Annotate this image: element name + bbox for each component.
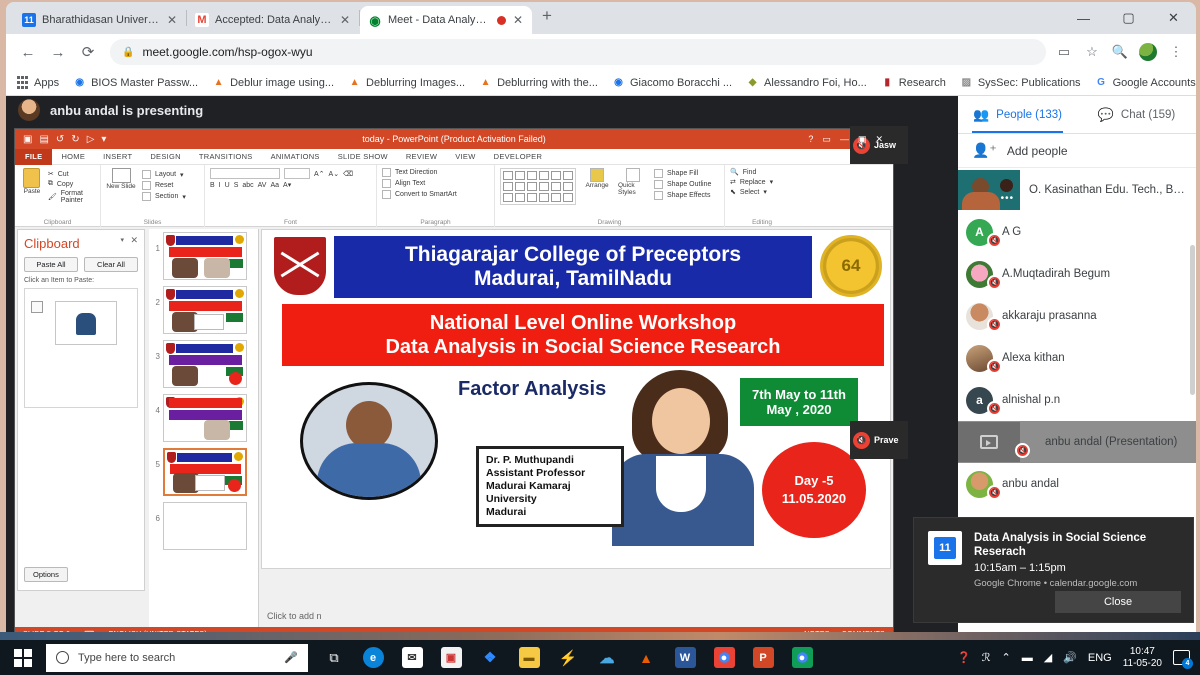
slide-thumbnail-panel[interactable]: 1 2 3 4 — [149, 229, 259, 627]
avatar: 🔇 — [966, 471, 993, 498]
mic-off-icon: 🔇 — [987, 317, 1002, 332]
ribbon-tab-view[interactable]: VIEW — [446, 149, 484, 165]
powerpoint-title-bar: ▣ ▤ ↺ ↻ ▷ ▾ today - PowerPoint (Product … — [15, 129, 893, 149]
slide-thumbnail-item[interactable]: 3 — [151, 340, 258, 388]
back-button[interactable]: ← — [14, 38, 42, 66]
firefox-icon: ▲ — [212, 76, 225, 89]
clipboard-menu-icon[interactable]: ▾ — [120, 236, 124, 244]
slide-number: 5 — [151, 448, 160, 469]
find-label: Find — [743, 169, 757, 176]
notification-source: Google Chrome • calendar.google.com — [974, 578, 1179, 589]
word-icon[interactable]: W — [667, 640, 703, 675]
clock-date: 11-05-20 — [1123, 658, 1162, 670]
strikethrough-button[interactable]: abc — [242, 182, 253, 189]
find-icon: 🔍 — [730, 168, 739, 176]
start-button[interactable] — [0, 640, 46, 675]
font-color-button[interactable]: A▾ — [283, 181, 291, 189]
increase-font-icon[interactable]: A⌃ — [314, 170, 325, 178]
shape-outline-icon — [654, 180, 663, 189]
shared-screen-powerpoint[interactable]: ▣ ▤ ↺ ↻ ▷ ▾ today - PowerPoint (Product … — [14, 128, 894, 642]
ribbon-display-icon[interactable]: ▭ — [822, 134, 831, 145]
shape-outline-button[interactable]: Shape Outline — [654, 180, 711, 189]
list-item[interactable]: 🔇 Alexa kithan — [958, 337, 1196, 379]
presenting-banner: anbu andal is presenting — [6, 96, 956, 124]
book-icon: ▮ — [881, 76, 894, 89]
meet-favicon-icon: ◉ — [368, 13, 382, 27]
app-yellow-icon[interactable]: ⚡ — [550, 640, 586, 675]
reload-button[interactable]: ⟳ — [74, 38, 102, 66]
bookmark-label: Alessandro Foi, Ho... — [764, 77, 867, 89]
tray-chevron-icon[interactable]: ⌃ — [1001, 651, 1010, 664]
file-explorer-icon[interactable]: ▬ — [511, 640, 547, 675]
bookmark-alessandro[interactable]: ◆ Alessandro Foi, Ho... — [746, 76, 867, 89]
slide-thumbnail-item[interactable]: 1 — [151, 232, 258, 280]
font-controls-row: A⌃ A⌄ ⌫ — [210, 168, 371, 179]
cortana-circle-icon — [56, 651, 69, 664]
powerpoint-icon[interactable]: P — [745, 640, 781, 675]
align-text-icon — [382, 179, 391, 188]
college-crest-icon — [272, 235, 328, 297]
workshop-dates-badge: 7th May to 11th May , 2020 — [740, 378, 858, 426]
notes-placeholder[interactable]: Click to add n — [261, 607, 891, 625]
close-tab-icon[interactable]: ✕ — [339, 13, 351, 27]
shape-fill-label: Shape Fill — [667, 170, 698, 177]
ribbon-tab-design[interactable]: DESIGN — [141, 149, 190, 165]
topic-title: Factor Analysis — [458, 378, 606, 401]
url-text: meet.google.com/hsp-ogox-wyu — [142, 45, 312, 59]
slide-thumbnail-item-selected[interactable]: 5 — [151, 448, 258, 496]
smartart-button[interactable]: Convert to SmartArt — [382, 190, 489, 199]
ribbon-group-paragraph: Text Direction Align Text Convert to Sma… — [377, 165, 495, 227]
mail-icon[interactable]: ✉ — [394, 640, 430, 675]
close-icon[interactable]: ✕ — [875, 134, 883, 145]
avatar: a 🔇 — [966, 387, 993, 414]
participant-tile-prave[interactable]: 🔇 Prave — [850, 421, 908, 459]
ribbon-tab-review[interactable]: REVIEW — [397, 149, 446, 165]
font-size-input[interactable] — [284, 168, 310, 179]
search-placeholder: Type here to search — [78, 652, 175, 664]
tab-strip: 11 Bharathidasan University - Calen ✕ M … — [6, 2, 1196, 34]
mic-off-icon: 🔇 — [987, 275, 1002, 290]
clipboard-buttons: Paste All Clear All — [24, 257, 138, 272]
powerpoint-workspace: Clipboard ▾ ✕ Paste All Clear All Click … — [15, 227, 893, 627]
slide-thumbnail-item[interactable]: 6 — [151, 502, 258, 550]
tab-people-label: People (133) — [996, 109, 1062, 121]
format-painter-button[interactable]: 🖌Format Painter — [48, 190, 95, 204]
avatar: A 🔇 — [966, 219, 993, 246]
participant-name: anbu andal (Presentation) — [1045, 436, 1177, 448]
day-line-2: 11.05.2020 — [782, 490, 846, 508]
italic-button[interactable]: I — [219, 182, 221, 189]
vlc-icon[interactable]: ▲ — [628, 640, 664, 675]
change-case-button[interactable]: Aa — [270, 182, 279, 189]
ribbon-tab-developer[interactable]: DEVELOPER — [485, 149, 552, 165]
powerpoint-ribbon: Paste ✂Cut ⧉Copy 🖌Format Painter Clipboa… — [15, 165, 893, 227]
college-title-banner: Thiagarajar College of Preceptors Madura… — [334, 236, 812, 298]
windows-logo-icon — [14, 649, 32, 667]
cut-button[interactable]: ✂Cut — [48, 170, 95, 178]
smartart-label: Convert to SmartArt — [395, 191, 457, 198]
font-name-input[interactable] — [210, 168, 280, 179]
menu-kebab-icon[interactable]: ⋮ — [1166, 42, 1186, 62]
character-spacing-button[interactable]: AV — [258, 182, 267, 189]
participant-name: O. Kasinathan Edu. Tech., BDU ... — [1029, 184, 1188, 196]
avatar: 🔇 — [966, 303, 993, 330]
chrome-taskbar-icon[interactable]: ● — [706, 640, 742, 675]
ribbon-group-editing: 🔍Find ⇄Replace▾ ⬉Select▾ Editing — [725, 165, 799, 227]
panel-tabs: 👥 People (133) 💬 Chat (159) — [958, 96, 1196, 134]
dropbox-icon[interactable]: ❖ — [472, 640, 508, 675]
calendar-icon-day: 11 — [934, 537, 956, 559]
wifi-icon[interactable]: ◢ — [1044, 651, 1052, 664]
text-direction-icon — [382, 168, 391, 177]
mic-off-icon: 🔇 — [987, 233, 1002, 248]
ribbon-tab-insert[interactable]: INSERT — [94, 149, 141, 165]
close-tab-icon[interactable]: ✕ — [512, 13, 524, 27]
edge-icon[interactable]: e — [355, 640, 391, 675]
toolbar-icons: ▭ ☆ 🔍 ⋮ — [1054, 42, 1188, 62]
mic-off-icon: 🔇 — [987, 401, 1002, 416]
minimize-icon[interactable]: — — [840, 134, 849, 145]
bookmark-label: SysSec: Publications — [978, 77, 1081, 89]
participant-name: Prave — [874, 435, 899, 445]
list-item[interactable]: A 🔇 A G — [958, 211, 1196, 253]
panel-scrollbar[interactable] — [1190, 245, 1195, 395]
bookmark-label: Deblur image using... — [230, 77, 334, 89]
ribbon-group-clipboard: Paste ✂Cut ⧉Copy 🖌Format Painter Clipboa… — [15, 165, 101, 227]
search-input[interactable]: Type here to search 🎤 — [46, 644, 308, 672]
list-item[interactable]: ••• O. Kasinathan Edu. Tech., BDU ... — [958, 169, 1196, 211]
microphone-icon[interactable]: 🎤 — [284, 651, 298, 664]
participant-name: akkaraju prasanna — [1002, 310, 1097, 322]
bookmark-label: Apps — [34, 77, 59, 89]
ribbon-group-drawing: Arrange Quick Styles Shape Fill Shape Ou… — [495, 165, 725, 227]
star-icon[interactable]: ☆ — [1082, 42, 1102, 62]
slide-number: 4 — [151, 394, 160, 415]
text-direction-button[interactable]: Text Direction — [382, 168, 489, 177]
paste-icon — [23, 168, 40, 188]
system-tray: ❓ ℛ ⌃ ▬ ◢ 🔊 ENG 10:47 11-05-20 4 — [957, 646, 1200, 669]
new-tab-button[interactable]: + — [532, 6, 562, 30]
text-direction-label: Text Direction — [395, 169, 437, 176]
cut-icon: ✂ — [48, 170, 54, 178]
participant-name: A G — [1002, 226, 1021, 238]
replace-button[interactable]: ⇄Replace▾ — [730, 178, 794, 186]
chrome-active-icon[interactable]: ● — [784, 640, 820, 675]
section-button[interactable]: Section▾ — [142, 192, 186, 201]
shape-effects-button[interactable]: Shape Effects — [654, 191, 711, 200]
page-icon: ▨ — [960, 76, 973, 89]
bookmark-label: Deblurring with the... — [497, 77, 598, 89]
reset-label: Reset — [155, 182, 173, 189]
slide-thumbnail[interactable] — [163, 448, 247, 496]
participant-video-thumbnail[interactable]: ••• — [958, 170, 1020, 210]
find-button[interactable]: 🔍Find — [730, 168, 794, 176]
anniversary-seal-icon: 64 — [820, 235, 882, 297]
clipboard-hint: Click an Item to Paste: — [24, 277, 138, 284]
bookmarks-bar: Apps ◉ BIOS Master Passw... ▲ Deblur ima… — [6, 70, 1196, 96]
notification-title: Data Analysis in Social Science Reserach — [974, 531, 1179, 560]
avatar: 🔇 — [966, 261, 993, 288]
ribbon-tab-slide-show[interactable]: SLIDE SHOW — [329, 149, 397, 165]
bookmark-label: Google Accounts — [1113, 77, 1196, 89]
handwriting-icon[interactable]: ℛ — [982, 651, 991, 664]
list-item[interactable]: 🔇 akkaraju prasanna — [958, 295, 1196, 337]
copy-button[interactable]: ⧉Copy — [48, 180, 95, 188]
add-people-label: Add people — [1007, 144, 1068, 158]
group-label: Slides — [101, 219, 204, 226]
presenter-avatar — [18, 99, 40, 121]
app-blue-icon[interactable]: ☁ — [589, 640, 625, 675]
quick-styles-label: Quick Styles — [618, 182, 648, 196]
browser-tab-gmail[interactable]: M Accepted: Data Analysis in Social ✕ — [187, 6, 359, 34]
workshop-line-2: Data Analysis in Social Science Research — [385, 335, 780, 359]
speaker-institution-2: University — [486, 493, 614, 506]
list-item[interactable]: a 🔇 alnishal p.n — [958, 379, 1196, 421]
bookmark-deblur-3[interactable]: ▲ Deblurring with the... — [479, 76, 598, 89]
lock-icon: 🔒 — [122, 47, 134, 58]
search-extension-icon[interactable]: 🔍 — [1110, 42, 1130, 62]
bookmark-giacomo[interactable]: ◉ Giacomo Boracchi ... — [612, 76, 732, 89]
ribbon-tab-transitions[interactable]: TRANSITIONS — [190, 149, 262, 165]
font-style-row: B I U S abc AV Aa A▾ — [210, 181, 371, 189]
clipboard-item-thumbnail[interactable] — [55, 301, 117, 345]
browser-tab-meet[interactable]: ◉ Meet - Data Analysis in Soci ✕ — [360, 6, 532, 34]
meet-stage: anbu andal is presenting ▣ ▤ ↺ ↻ ▷ ▾ t — [6, 96, 956, 642]
college-line-2: Madurai, TamilNadu — [474, 267, 672, 291]
store-icon[interactable]: ▣ — [433, 640, 469, 675]
quick-styles-button[interactable]: Quick Styles — [618, 168, 648, 196]
bookmark-deblur-1[interactable]: ▲ Deblur image using... — [212, 76, 334, 89]
speaker-details-card: Dr. P. Muthupandi Assistant Professor Ma… — [476, 446, 624, 527]
tab-people[interactable]: 👥 People (133) — [958, 96, 1077, 133]
screen: 11 Bharathidasan University - Calen ✕ M … — [0, 0, 1200, 675]
slide-thumbnail[interactable] — [163, 394, 247, 442]
maximize-button[interactable]: ▢ — [1106, 2, 1151, 34]
close-notification-button[interactable]: Close — [1055, 591, 1181, 613]
mic-off-icon: 🔇 — [987, 485, 1002, 500]
camera-icon[interactable]: ▭ — [1054, 42, 1074, 62]
copy-icon: ⧉ — [48, 180, 53, 188]
slide-thumbnail[interactable] — [163, 232, 247, 280]
arrange-label: Arrange — [585, 182, 608, 189]
people-icon: 👥 — [973, 107, 989, 123]
speaker-city: Madurai — [486, 506, 614, 519]
layout-icon — [142, 170, 151, 179]
bookmark-apps[interactable]: Apps — [16, 76, 59, 89]
clock-time: 10:47 — [1123, 646, 1162, 658]
close-window-button[interactable]: ✕ — [1151, 2, 1196, 34]
windows-notification[interactable]: 11 Data Analysis in Social Science Reser… — [913, 517, 1194, 623]
apps-grid-icon — [16, 76, 29, 89]
quick-styles-icon — [626, 168, 640, 182]
slide-thumbnail-empty[interactable] — [163, 502, 247, 550]
arrange-icon — [590, 168, 604, 182]
replace-label: Replace — [740, 179, 766, 186]
select-label: Select — [740, 189, 759, 196]
gmail-favicon-icon: M — [195, 13, 209, 27]
task-view-icon[interactable]: ⧉ — [316, 640, 352, 675]
tab-title: Accepted: Data Analysis in Social — [215, 14, 333, 26]
align-text-button[interactable]: Align Text — [382, 179, 489, 188]
workshop-line-1: National Level Online Workshop — [430, 311, 736, 335]
calendar-icon: 11 — [928, 531, 962, 565]
bookmark-google-accounts[interactable]: G Google Accounts — [1095, 76, 1196, 89]
tab-chat[interactable]: 💬 Chat (159) — [1077, 96, 1196, 133]
slide-thumbnail[interactable] — [163, 340, 247, 388]
browser-tab-calendar[interactable]: 11 Bharathidasan University - Calen ✕ — [14, 6, 186, 34]
bookmark-bios[interactable]: ◉ BIOS Master Passw... — [73, 76, 198, 89]
powerpoint-window-controls: ? ▭ — ▣ ✕ — [808, 134, 889, 145]
slide-number: 6 — [151, 502, 160, 523]
group-label: Font — [205, 219, 376, 226]
reset-icon — [142, 181, 151, 190]
participant-name: alnishal p.n — [1002, 394, 1060, 406]
globe-icon: ◉ — [612, 76, 625, 89]
shape-fill-button[interactable]: Shape Fill — [654, 169, 711, 178]
slide-number: 3 — [151, 340, 160, 361]
bookmark-label: BIOS Master Passw... — [91, 77, 198, 89]
slide-number: 1 — [151, 232, 160, 253]
underline-button[interactable]: U — [225, 182, 230, 189]
recording-indicator-icon — [497, 16, 506, 25]
shapes-gallery[interactable] — [500, 168, 576, 205]
volume-icon[interactable]: 🔊 — [1063, 651, 1077, 664]
new-slide-icon — [112, 168, 131, 183]
close-tab-icon[interactable]: ✕ — [166, 13, 178, 27]
powerpoint-title: today - PowerPoint (Product Activation F… — [15, 134, 893, 144]
slide-thumbnail-item[interactable]: 2 — [151, 286, 258, 334]
clipboard-items-list — [24, 288, 138, 408]
powerpoint-ribbon-tabs: FILE HOME INSERT DESIGN TRANSITIONS ANIM… — [15, 149, 893, 165]
firefox-icon: ▲ — [479, 76, 492, 89]
section-label: Section — [155, 193, 178, 200]
restore-icon[interactable]: ▣ — [858, 134, 867, 145]
add-people-button[interactable]: 👤⁺ Add people — [958, 134, 1196, 168]
align-text-label: Align Text — [395, 180, 425, 187]
close-icon[interactable]: ✕ — [130, 235, 138, 246]
slide-thumbnail-item[interactable]: 4 — [151, 394, 258, 442]
new-slide-button[interactable]: New Slide — [106, 168, 136, 203]
help-icon[interactable]: ? — [808, 134, 813, 145]
browser-toolbar: ← → ⟳ 🔒 meet.google.com/hsp-ogox-wyu ▭ ☆… — [6, 34, 1196, 70]
address-bar[interactable]: 🔒 meet.google.com/hsp-ogox-wyu — [110, 39, 1046, 65]
chat-icon: 💬 — [1098, 107, 1114, 123]
select-button[interactable]: ⬉Select▾ — [730, 188, 794, 196]
speaker-institution-1: Madurai Kamaraj — [486, 480, 614, 493]
list-item[interactable]: 🔇 A.Muqtadirah Begum — [958, 253, 1196, 295]
google-icon: G — [1095, 76, 1108, 89]
tab-chat-label: Chat (159) — [1121, 109, 1175, 121]
layout-button[interactable]: Layout▾ — [142, 170, 186, 179]
group-label: Drawing — [495, 219, 724, 226]
day-line-1: Day -5 — [794, 472, 833, 490]
group-label: Clipboard — [15, 219, 100, 226]
bookmark-label: Giacomo Boracchi ... — [630, 77, 732, 89]
dates-line-2: May , 2020 — [766, 402, 831, 417]
reset-button[interactable]: Reset — [142, 181, 186, 190]
list-item[interactable]: 🔇 anbu andal — [958, 463, 1196, 505]
minimize-button[interactable]: — — [1061, 2, 1106, 34]
smartart-icon — [382, 190, 391, 199]
bookmark-syssec[interactable]: ▨ SysSec: Publications — [960, 76, 1081, 89]
forward-button[interactable]: → — [44, 38, 72, 66]
language-indicator[interactable]: ENG — [1088, 652, 1112, 664]
cut-label: Cut — [58, 171, 69, 178]
action-center-icon[interactable]: 4 — [1173, 650, 1190, 665]
stock-photo-woman — [604, 370, 762, 545]
shape-outline-label: Shape Outline — [667, 181, 711, 188]
ribbon-tab-home[interactable]: HOME — [52, 149, 94, 165]
layout-label: Layout — [155, 171, 176, 178]
mic-off-icon: 🔇 — [1015, 443, 1030, 458]
decrease-font-icon[interactable]: A⌄ — [329, 170, 340, 178]
bookmark-research[interactable]: ▮ Research — [881, 76, 946, 89]
slide-thumbnail[interactable] — [163, 286, 247, 334]
speaker-designation: Assistant Professor — [486, 467, 614, 480]
dates-line-1: 7th May to 11th — [752, 387, 846, 402]
speaker-photo — [300, 382, 438, 500]
clock[interactable]: 10:47 11-05-20 — [1123, 646, 1162, 669]
arrange-button[interactable]: Arrange — [582, 168, 612, 189]
firefox-icon: ▲ — [348, 76, 361, 89]
brush-icon: 🖌 — [48, 193, 57, 201]
clear-all-button[interactable]: Clear All — [84, 257, 138, 272]
ribbon-group-font: A⌃ A⌄ ⌫ B I U S abc AV Aa — [205, 165, 377, 227]
paste-button[interactable]: Paste — [20, 168, 44, 206]
college-line-1: Thiagarajar College of Preceptors — [405, 243, 741, 267]
replace-icon: ⇄ — [730, 178, 736, 186]
slide-number: 2 — [151, 286, 160, 307]
shape-effects-icon — [654, 191, 663, 200]
windows-taskbar: Type here to search 🎤 ⧉ e ✉ ▣ ❖ ▬ ⚡ ☁ ▲ … — [0, 640, 1200, 675]
shadow-button[interactable]: S — [234, 182, 239, 189]
help-circle-icon[interactable]: ❓ — [957, 651, 971, 664]
paste-all-button[interactable]: Paste All — [24, 257, 78, 272]
clipboard-entry-icon — [31, 301, 43, 313]
bold-button[interactable]: B — [210, 182, 215, 189]
format-painter-label: Format Painter — [61, 190, 95, 204]
list-item-presentation[interactable]: 🔇 anbu andal (Presentation) — [958, 421, 1196, 463]
slide-editing-area[interactable]: 64 Thiagarajar College of Preceptors Mad… — [261, 229, 891, 607]
current-slide[interactable]: 64 Thiagarajar College of Preceptors Mad… — [261, 229, 891, 569]
group-label: Paragraph — [377, 219, 494, 226]
avatar: 🔇 — [966, 345, 993, 372]
notification-content: 11 Data Analysis in Social Science Reser… — [928, 531, 1179, 589]
participant-tile-jaswa[interactable]: 🔇 Jasw — [850, 126, 908, 164]
clipboard-task-pane: Clipboard ▾ ✕ Paste All Clear All Click … — [17, 229, 145, 591]
presenting-text: anbu andal is presenting — [50, 103, 203, 118]
paste-label: Paste — [24, 188, 41, 195]
bookmark-label: Deblurring Images... — [366, 77, 465, 89]
bookmark-label: Research — [899, 77, 946, 89]
select-icon: ⬉ — [730, 188, 736, 196]
ribbon-tab-file[interactable]: FILE — [15, 149, 52, 165]
section-icon — [142, 192, 151, 201]
clear-formatting-icon[interactable]: ⌫ — [343, 170, 353, 178]
participant-name: Alexa kithan — [1002, 352, 1065, 364]
ribbon-tab-animations[interactable]: ANIMATIONS — [262, 149, 329, 165]
bookmark-deblur-2[interactable]: ▲ Deblurring Images... — [348, 76, 465, 89]
participant-name: anbu andal — [1002, 478, 1059, 490]
clipboard-options-button[interactable]: Options — [24, 567, 68, 582]
page-icon: ◆ — [746, 76, 759, 89]
shape-effects-label: Shape Effects — [667, 192, 710, 199]
profile-avatar[interactable] — [1138, 42, 1158, 62]
mic-off-icon: 🔇 — [987, 359, 1002, 374]
battery-icon[interactable]: ▬ — [1022, 652, 1033, 664]
presentation-thumbnail[interactable] — [958, 422, 1020, 462]
